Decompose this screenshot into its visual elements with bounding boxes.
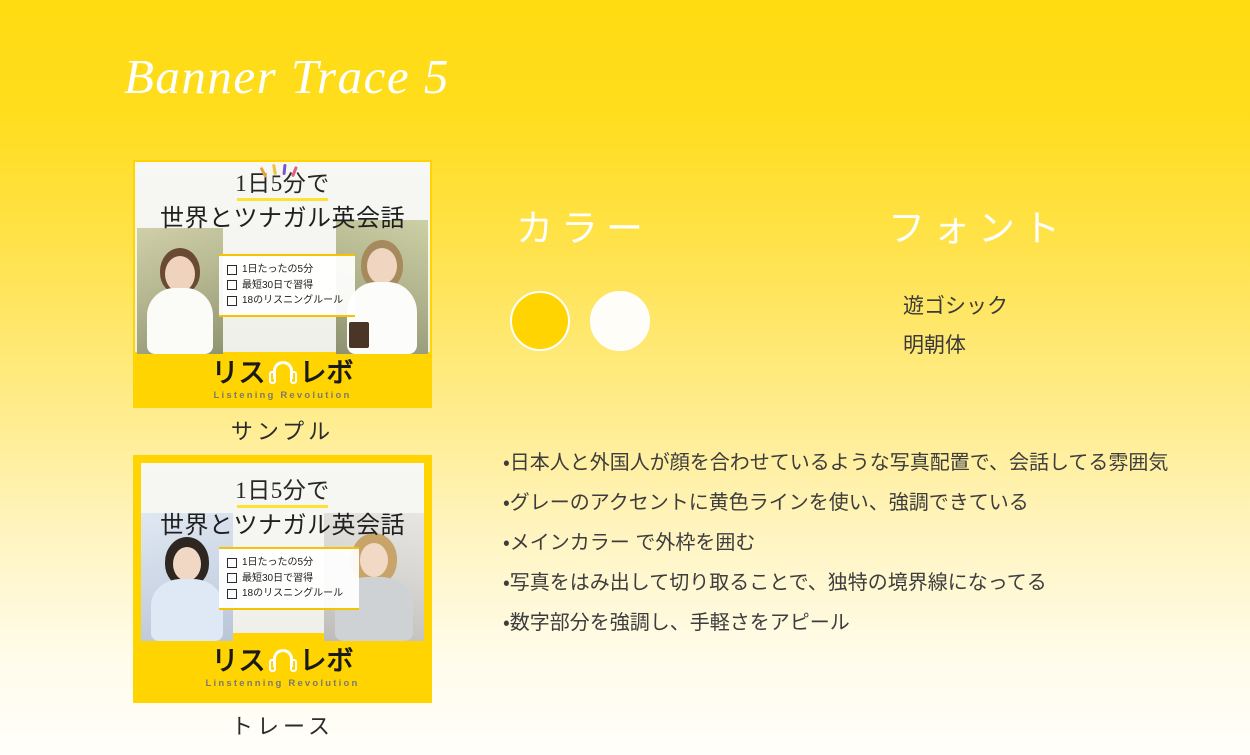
logo-lockup: リス レボ <box>212 360 354 387</box>
checklist-item: 最短30日で習得 <box>227 571 353 587</box>
checkbox-icon <box>227 265 237 275</box>
logo-word-left: リス <box>212 360 266 387</box>
logo-tagline: Linstenning Revolution <box>206 678 360 689</box>
banner-caption-trace: トレース <box>133 709 432 741</box>
logo-word-right: レボ <box>300 360 354 387</box>
headphone-icon <box>268 649 298 673</box>
notes-list: ・日本人と外国人が顔を合わせているような写真配置で、会話してる雰囲気 ・グレーの… <box>503 443 1250 643</box>
banner-image-trace: 1日5分で 世界とツナガル英会話 <box>133 455 432 703</box>
checklist-label: 18のリスニングルール <box>242 293 343 309</box>
checkbox-icon <box>227 573 237 583</box>
banner-logo-bar: リス レボ Linstenning Revolution <box>141 633 424 703</box>
checklist-item: 1日たったの5分 <box>227 555 353 571</box>
font-section-heading: フォント <box>888 198 1068 252</box>
checklist-label: 1日たったの5分 <box>242 262 313 278</box>
checkbox-icon <box>227 280 237 290</box>
headphone-icon <box>268 361 298 385</box>
checkbox-icon <box>227 589 237 599</box>
checklist-label: 最短30日で習得 <box>242 571 313 587</box>
note-item: ・数字部分を強調し、手軽さをアピール <box>503 603 1250 643</box>
checklist-item: 最短30日で習得 <box>227 278 349 294</box>
page-title: Banner Trace 5 <box>124 48 450 105</box>
checkbox-icon <box>227 296 237 306</box>
banner-caption-sample: サンプル <box>133 414 432 446</box>
banner-headline: 1日5分で 世界とツナガル英会話 <box>135 170 430 234</box>
banner-stage: 1日5分で 世界とツナガル英会話 <box>135 162 430 354</box>
color-swatch-main-yellow <box>510 291 570 351</box>
color-swatch-white <box>590 291 650 351</box>
logo-lockup: リス レボ <box>212 648 354 675</box>
logo-word-left: リス <box>212 648 266 675</box>
sparkle-decoration-icon <box>256 164 310 178</box>
font-list: 遊ゴシック 明朝体 <box>903 288 1008 366</box>
headline-line-2: 世界とツナガル英会話 <box>135 204 430 234</box>
banner-checklist: 1日たったの5分 最短30日で習得 18のリスニングルール <box>219 254 355 317</box>
logo-word-right: レボ <box>300 648 354 675</box>
note-item: ・メインカラー で外枠を囲む <box>503 523 1250 563</box>
font-list-item: 明朝体 <box>903 327 1008 366</box>
checklist-label: 1日たったの5分 <box>242 555 313 571</box>
note-item: ・グレーのアクセントに黄色ラインを使い、強調できている <box>503 483 1250 523</box>
checklist-label: 最短30日で習得 <box>242 278 313 294</box>
logo-tagline: Listening Revolution <box>214 390 352 401</box>
color-section-heading: カラー <box>516 198 651 252</box>
checkbox-icon <box>227 558 237 568</box>
banner-photo-left <box>137 228 223 354</box>
headline-line-1: 1日5分で <box>231 477 334 507</box>
checklist-label: 18のリスニングルール <box>242 586 343 602</box>
banner-logo-bar: リス レボ Listening Revolution <box>135 352 430 408</box>
checklist-item: 18のリスニングルール <box>227 293 349 309</box>
banner-card-sample: 1日5分で 世界とツナガル英会話 <box>133 160 432 446</box>
note-item: ・写真をはみ出して切り取ることで、独特の境界線になってる <box>503 563 1250 603</box>
headline-line-2: 世界とツナガル英会話 <box>141 511 424 541</box>
banner-checklist: 1日たったの5分 最短30日で習得 18のリスニングルール <box>219 547 359 610</box>
note-item: ・日本人と外国人が顔を合わせているような写真配置で、会話してる雰囲気 <box>503 443 1250 483</box>
checklist-item: 1日たったの5分 <box>227 262 349 278</box>
banner-image-sample: 1日5分で 世界とツナガル英会話 <box>133 160 432 408</box>
banner-headline: 1日5分で 世界とツナガル英会話 <box>141 477 424 541</box>
banner-card-trace: 1日5分で 世界とツナガル英会話 <box>133 455 432 741</box>
font-list-item: 遊ゴシック <box>903 288 1008 327</box>
banner-stage: 1日5分で 世界とツナガル英会話 <box>141 463 424 641</box>
color-swatch-list <box>510 291 650 351</box>
checklist-item: 18のリスニングルール <box>227 586 353 602</box>
